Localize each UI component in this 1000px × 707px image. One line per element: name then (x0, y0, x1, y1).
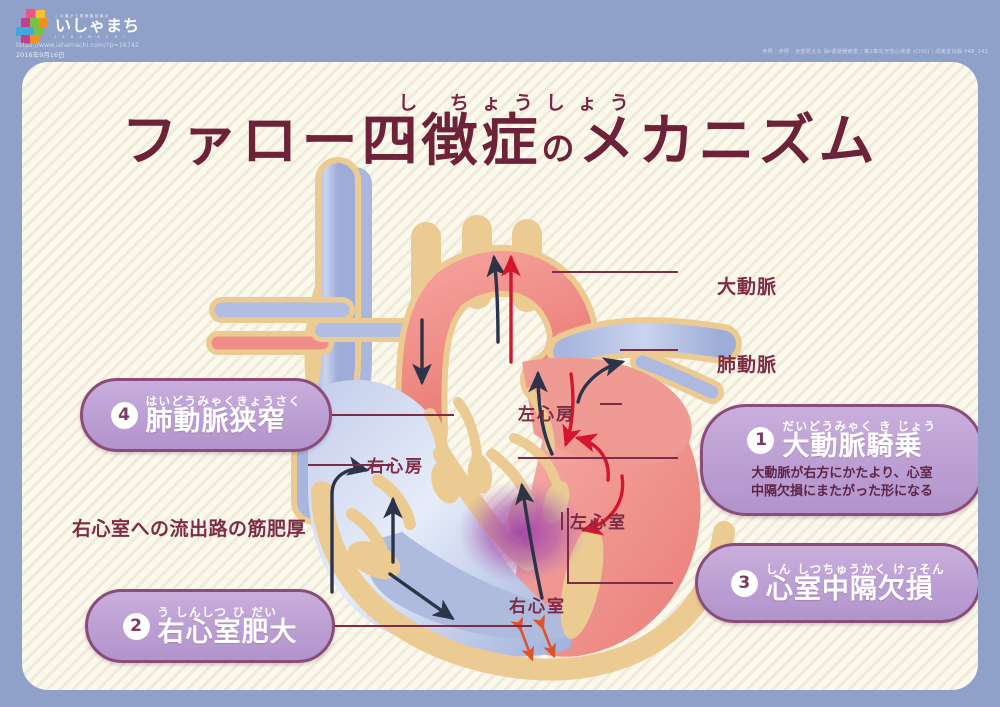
badge-title-1: 大動脈騎乗 (782, 432, 936, 462)
publish-date: 2016年9月16日 (16, 50, 65, 59)
label-pulmonary-artery: 肺動脈 (717, 350, 777, 377)
badge-description-1: 大動脈が右方にかたより、心室 中隔欠損にまたがった形になる (751, 465, 933, 502)
badge-number-4: 4 (111, 402, 138, 429)
label-left-ventricle: 左心室 (570, 508, 627, 533)
badge-description-1-line2: 中隔欠損にまたがった形になる (751, 483, 933, 501)
badge-right-ventricular-hypertrophy[interactable]: 2 う しんしつ ひ だい 右心室肥大 (85, 589, 335, 663)
badge-title-4: 肺動脈狭窄 (146, 407, 302, 437)
badge-number-1: 1 (747, 427, 774, 454)
page-header: この春から医療最前線の いしゃまち I S H A M A C H I http… (0, 0, 1000, 62)
badge-pulmonary-stenosis[interactable]: 4 はいどうみゃくきょうさく 肺動脈狭窄 (80, 378, 332, 452)
label-right-ventricle: 右心室 (509, 592, 566, 617)
label-right-atrium: 右心房 (367, 452, 424, 477)
annotation-myocardial-hypertrophy: 右心室への流出路の筋肥厚 (72, 514, 306, 541)
label-aorta: 大動脈 (717, 272, 777, 299)
label-left-atrium: 左心房 (518, 400, 575, 425)
badge-overriding-aorta[interactable]: 1 だいどうみゃく き じょう 大動脈騎乗 大動脈が右方にかたより、心室 中隔欠… (700, 404, 978, 516)
logo-name: いしゃまち (55, 18, 140, 35)
badge-title-2: 右心室肥大 (158, 618, 298, 648)
badge-title-3: 心室中隔欠損 (766, 575, 945, 605)
site-logo[interactable]: この春から医療最前線の いしゃまち I S H A M A C H I (16, 9, 140, 39)
source-url[interactable]: https://www.ishamachi.com/?p=16742 (16, 42, 139, 49)
infographic-panel: し ちょうしょう ファロー四徴症のメカニズム (22, 62, 978, 690)
logo-mosaic-icon (16, 9, 50, 39)
badge-ventricular-septal-defect[interactable]: 3 しん しつちゅうかく けっそん 心室中隔欠損 (695, 543, 978, 623)
badge-description-1-line1: 大動脈が右方にかたより、心室 (751, 465, 933, 483)
logo-subtitle: I S H A M A C H I (55, 35, 140, 39)
reference-credit: 参照：参照：全部見える 脳・循環器疾患 | 第2章先天性心疾患 (CHD) | … (762, 47, 988, 55)
badge-number-2: 2 (123, 613, 150, 640)
badge-number-3: 3 (731, 570, 758, 597)
